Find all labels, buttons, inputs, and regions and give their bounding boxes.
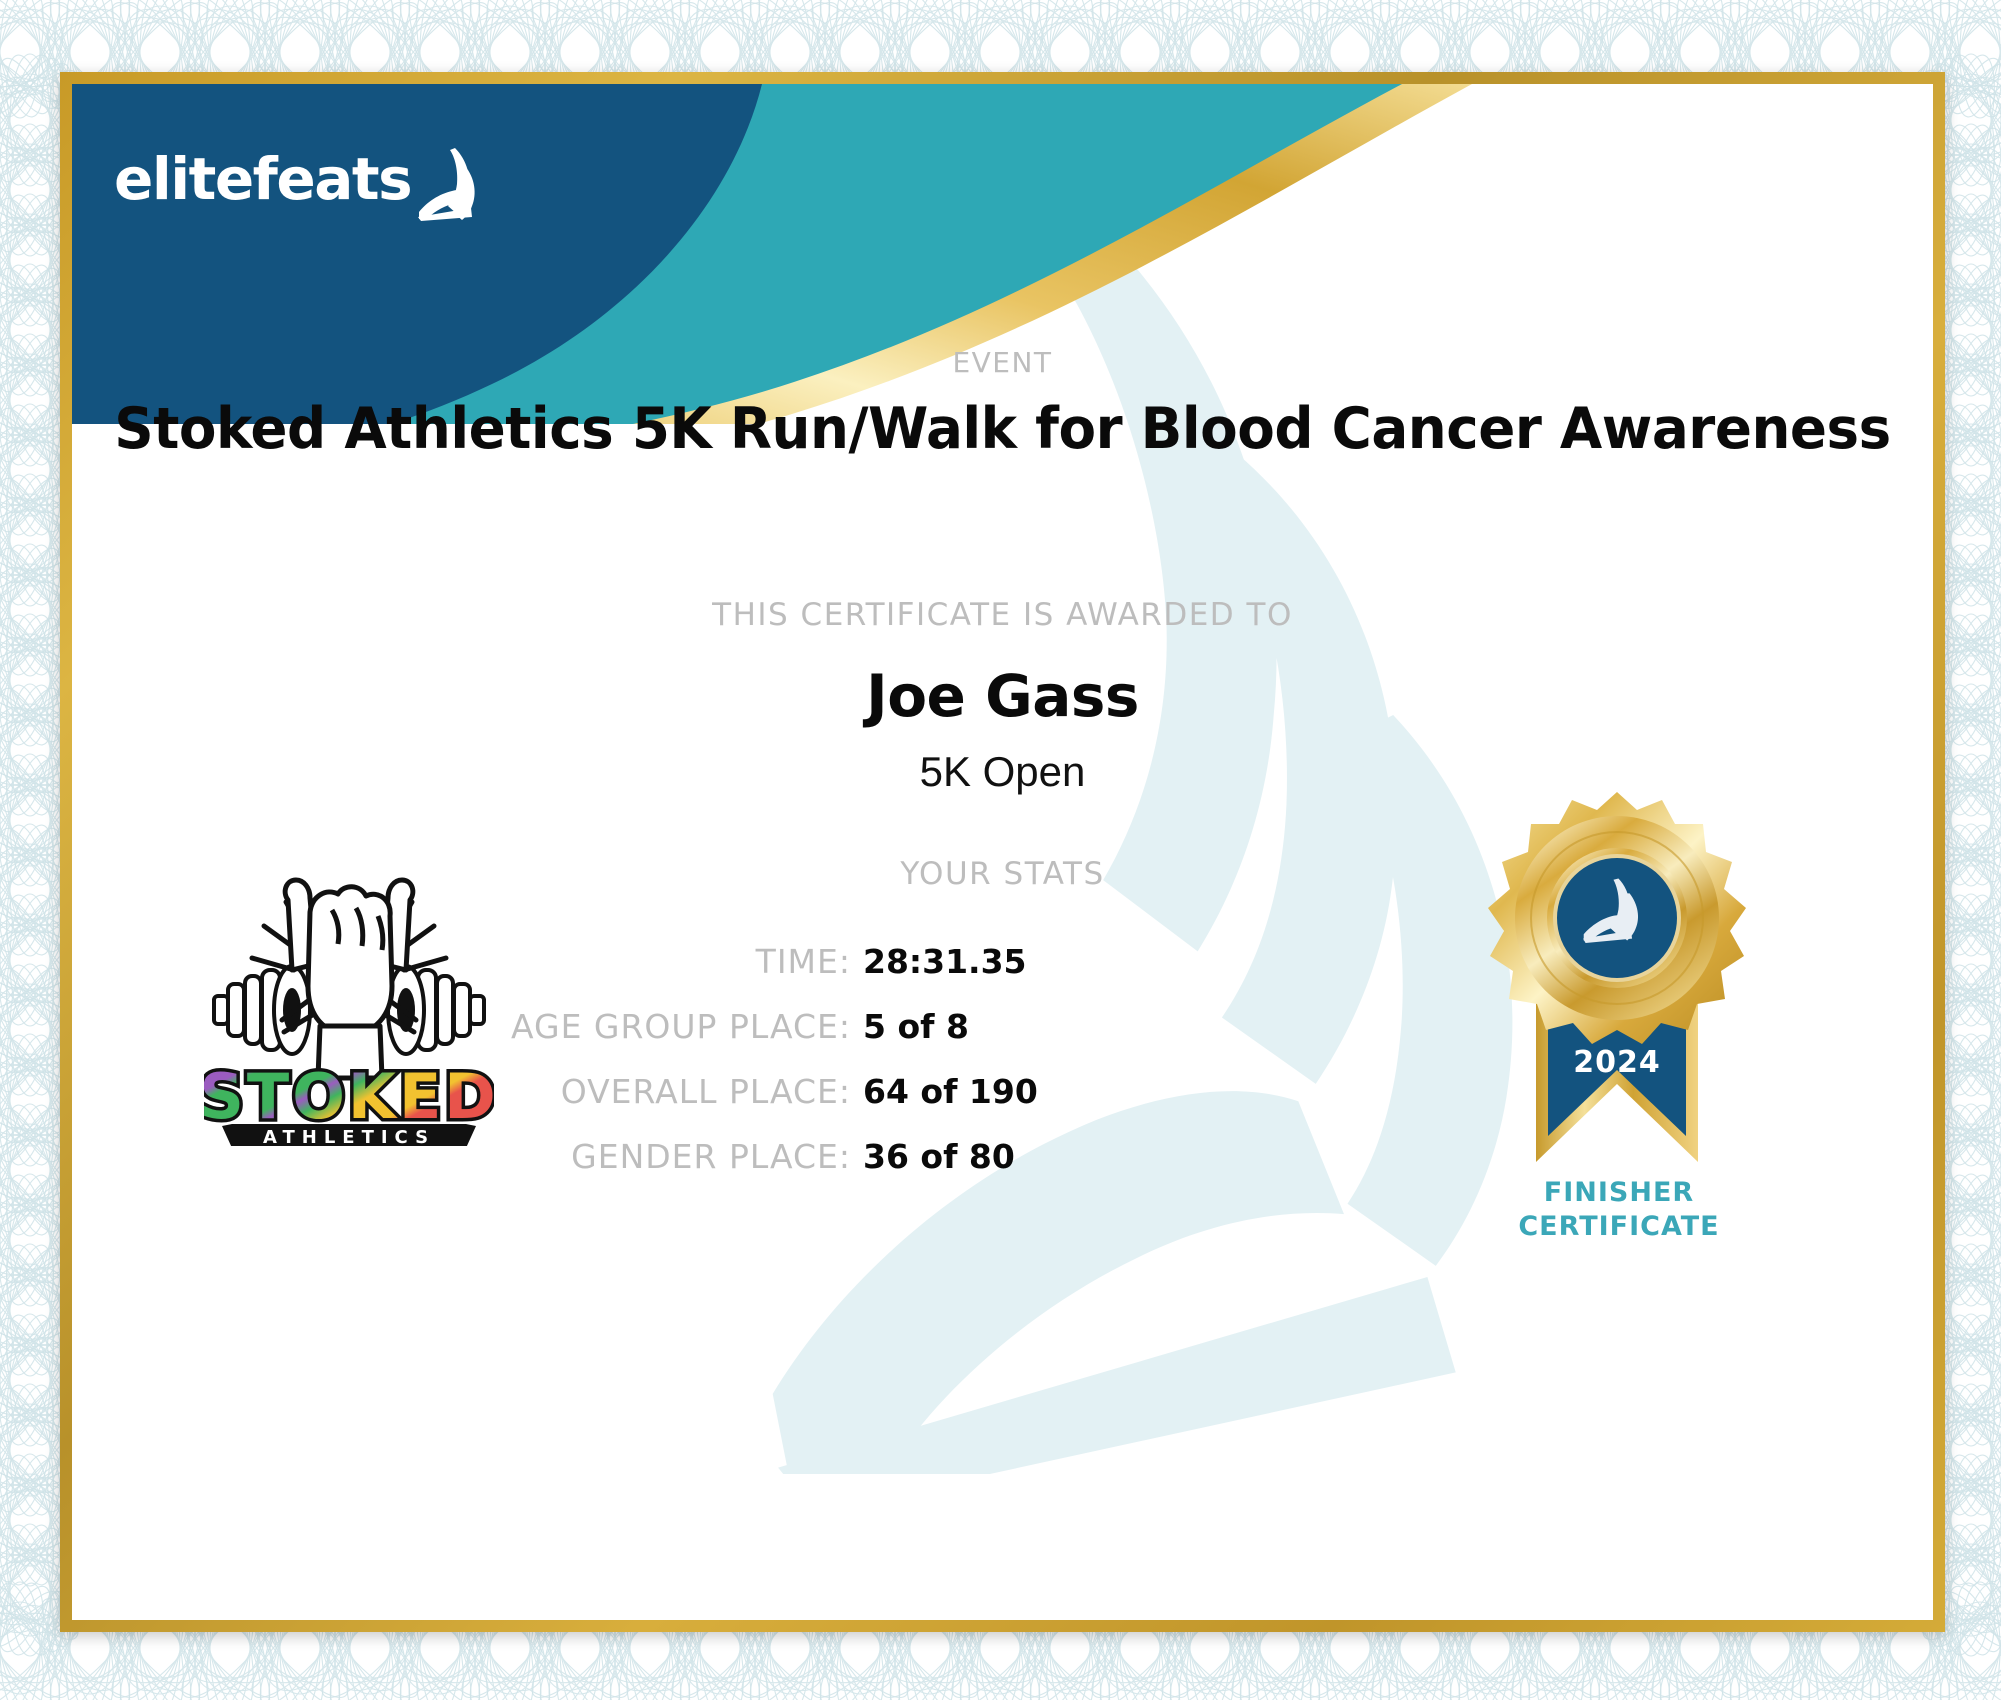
certificate-gold-frame: elitefeats EVENT Stoked Athletics 5K Run… [60, 72, 1945, 1632]
finisher-caption-line2: CERTIFICATE [1454, 1211, 1784, 1242]
event-label: EVENT [72, 346, 1933, 379]
stat-value-age-group-place: 5 of 8 [863, 1007, 969, 1046]
stoked-athletics-logo: STOKED ATHLETICS [204, 866, 494, 1146]
badge-year: 2024 [1573, 1045, 1661, 1080]
awarded-to-label: THIS CERTIFICATE IS AWARDED TO [72, 597, 1933, 633]
stat-value-time: 28:31.35 [863, 942, 1027, 981]
certificate-card: elitefeats EVENT Stoked Athletics 5K Run… [72, 84, 1933, 1620]
finisher-medal-badge: 2024 [1462, 784, 1772, 1184]
stoked-wordmark: STOKED [204, 1060, 494, 1133]
event-title: Stoked Athletics 5K Run/Walk for Blood C… [109, 396, 1896, 462]
athletics-subtext: ATHLETICS [263, 1127, 435, 1146]
stat-value-gender-place: 36 of 80 [863, 1137, 1015, 1176]
stat-value-overall-place: 64 of 190 [863, 1072, 1038, 1111]
certificate-body: EVENT Stoked Athletics 5K Run/Walk for B… [72, 84, 1933, 1620]
finisher-caption-line1: FINISHER [1454, 1177, 1784, 1208]
recipient-name: Joe Gass [72, 662, 1933, 730]
medal [1488, 792, 1746, 1044]
